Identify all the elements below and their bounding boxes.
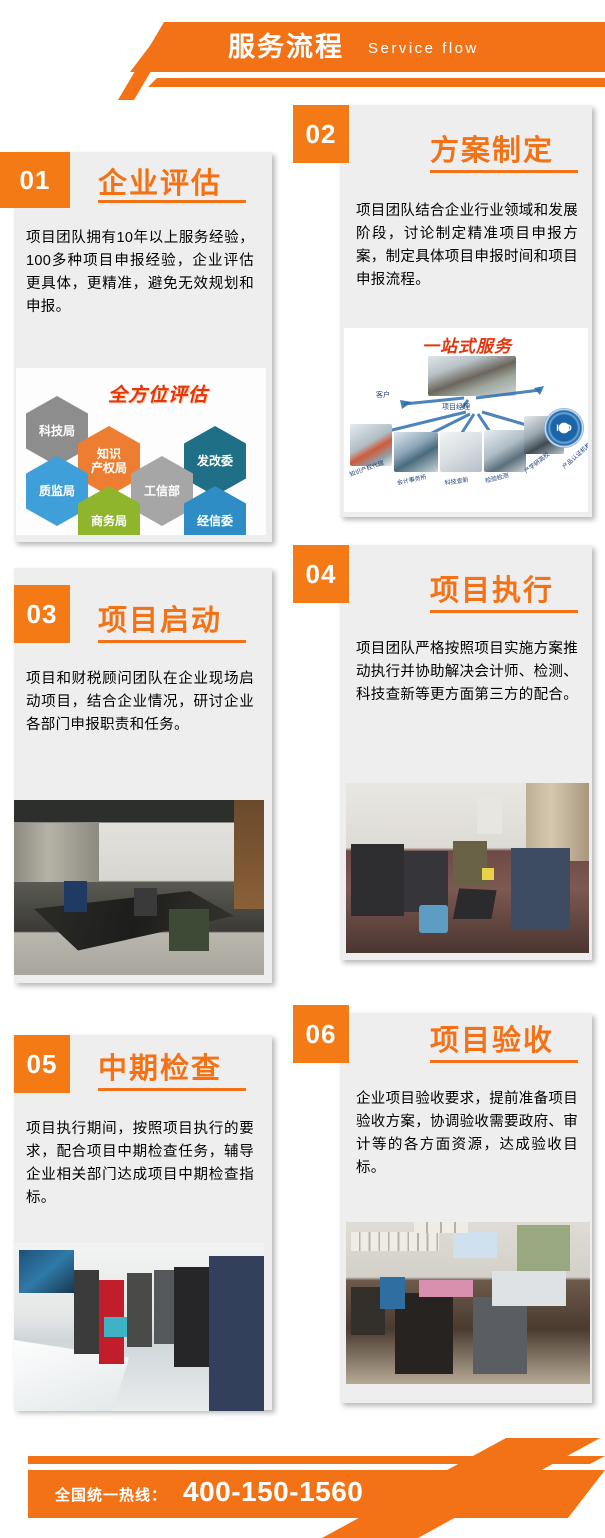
hotline-number[interactable]: 400-150-1560 [183, 1476, 363, 1508]
service-certification-seal: ISO [544, 408, 584, 448]
step-body-06: 企业项目验收要求，提前准备项目验收方案，协调验收需要政府、审计等的各方面资源，达… [356, 1088, 578, 1180]
page-subtitle: Service flow [368, 40, 479, 57]
step-title-05: 中期检查 [98, 1045, 222, 1087]
service-label-manager: 项目经理 [442, 402, 470, 412]
hexagon-node-gongxin: 工信部 [131, 456, 193, 526]
hexagon-node-fagai: 发改委 [184, 426, 246, 496]
step-body-02: 项目团队结合企业行业领域和发展阶段，讨论制定精准项目申报方案，制定具体项目申报时… [356, 200, 578, 292]
hexagon-chart: 全方位评估 科技局 知识 产权局 发改委 质监局 工信部 商务局 经信委 [16, 368, 266, 535]
service-node-photo-testing [484, 430, 526, 472]
one-stop-service-diagram: 一站式服务 客户 项目经理 [344, 328, 588, 512]
step-badge-04: 04 [293, 545, 349, 603]
step-title-01: 企业评估 [98, 160, 222, 202]
step-body-05: 项目执行期间，按照项目执行的要求，配合项目中期检查任务，辅导企业相关部门达成项目… [26, 1118, 254, 1210]
step-badge-01: 01 [0, 152, 70, 208]
step-title-underline-03 [98, 640, 246, 643]
step-title-04: 项目执行 [430, 567, 554, 609]
service-label-customer: 客户 [376, 390, 390, 400]
service-node-photo-accounting [394, 432, 438, 472]
step-badge-03: 03 [14, 585, 70, 643]
footer-top-line [28, 1456, 605, 1464]
step-body-03: 项目和财税顾问团队在企业现场启动项目，结合企业情况，研讨企业各部门申报职责和任务… [26, 668, 254, 737]
step-body-01: 项目团队拥有10年以上服务经验，100多种项目申报经验，企业评估更具体，更精准，… [26, 227, 254, 319]
step-title-underline-05 [98, 1088, 246, 1091]
step-title-02: 方案制定 [430, 127, 554, 169]
hotline-label: 全国统一热线： [55, 1484, 167, 1505]
hexagon-chart-title: 全方位评估 [108, 380, 208, 407]
infographic-page: 服务流程 Service flow 01 企业评估 项目团队拥有10年以上服务经… [0, 0, 605, 1538]
step-badge-05: 05 [14, 1035, 70, 1093]
step-photo-04 [346, 783, 589, 953]
step-title-underline-02 [430, 170, 578, 173]
step-title-06: 项目验收 [430, 1017, 554, 1059]
hexagon-node-jingxin: 经信委 [184, 486, 246, 535]
header-banner-underline [148, 78, 605, 87]
step-body-04: 项目团队严格按照项目实施方案推动执行并协助解决会计师、检测、科技查新等更方面第三… [356, 638, 578, 707]
page-header: 服务流程 Service flow [0, 0, 605, 100]
service-node-photo-ip [350, 424, 392, 466]
page-footer: 全国统一热线： 400-150-1560 [0, 1420, 605, 1538]
step-title-underline-06 [430, 1060, 578, 1063]
step-title-underline-01 [98, 200, 246, 203]
step-photo-03 [14, 800, 264, 975]
step-badge-02: 02 [293, 105, 349, 163]
service-node-photo-search [440, 432, 482, 472]
step-photo-05 [14, 1243, 264, 1411]
step-title-03: 项目启动 [98, 597, 222, 639]
page-title: 服务流程 [228, 31, 344, 63]
step-title-underline-04 [430, 610, 578, 613]
step-photo-06 [346, 1222, 590, 1384]
step-badge-06: 06 [293, 1005, 349, 1063]
